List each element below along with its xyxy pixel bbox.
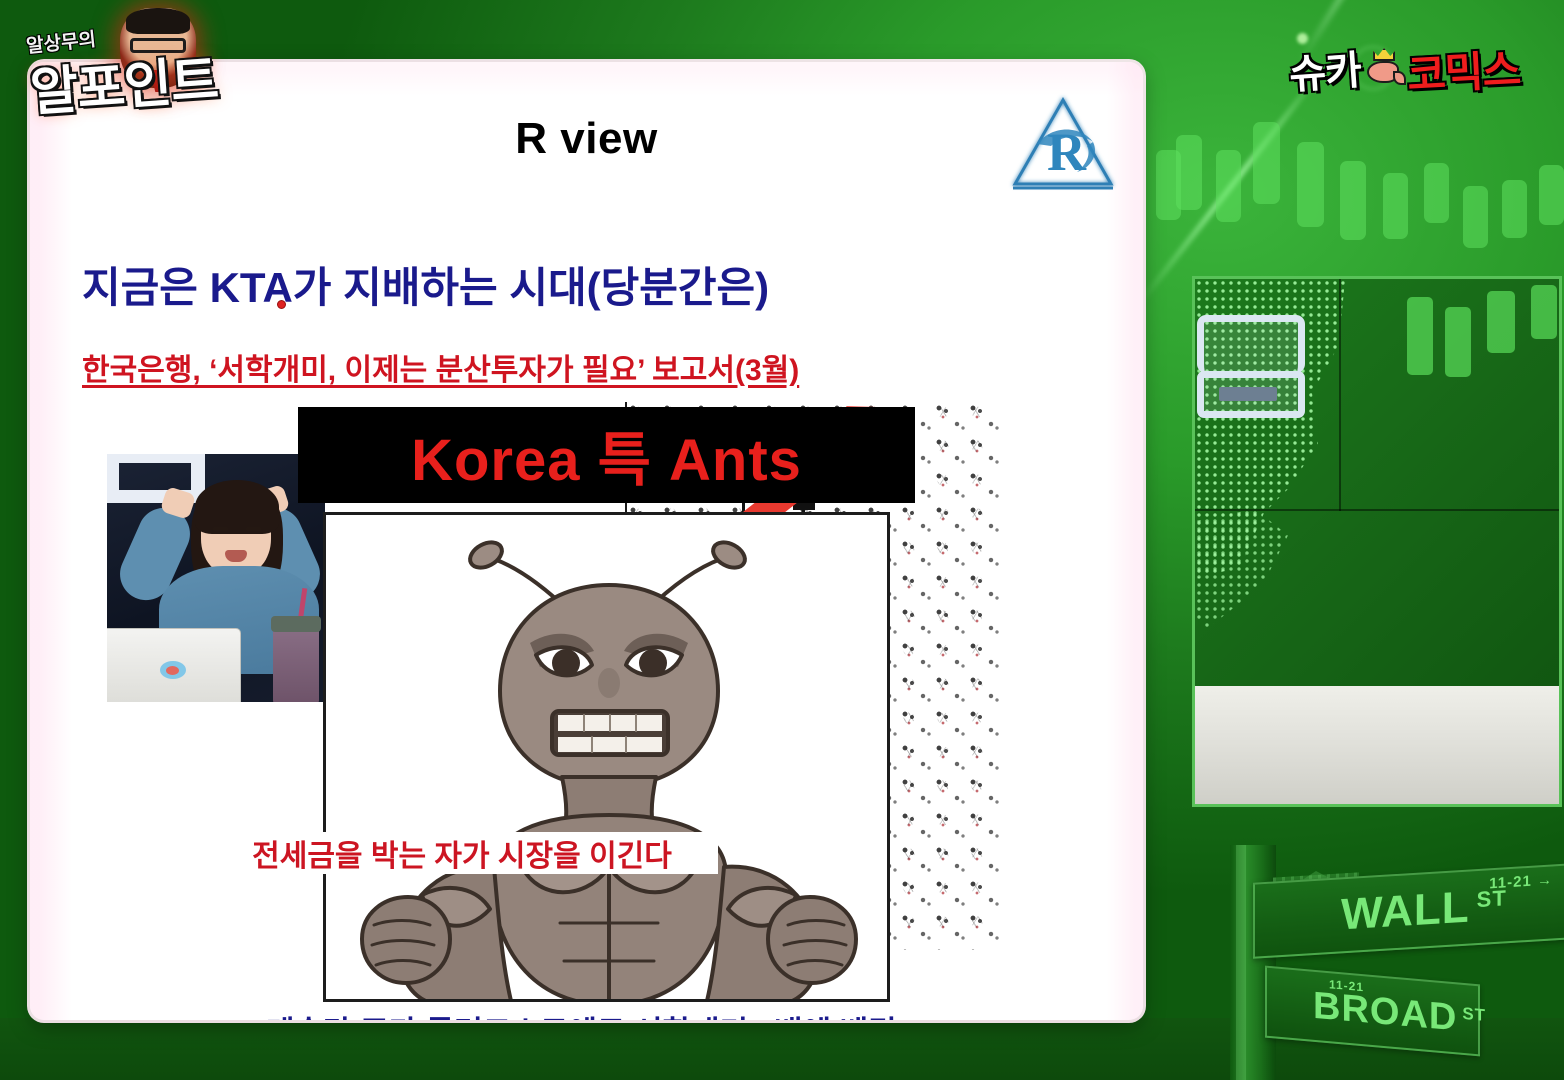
guest-webcam-left[interactable]: [107, 454, 325, 702]
studio-bar: [1445, 307, 1471, 377]
shrimp-sticker-icon: [160, 661, 186, 679]
left-cam-mouth: [225, 550, 247, 562]
backdrop-bar: [1463, 186, 1488, 248]
broad-st-sign: 11-21 BROAD ST: [1265, 966, 1480, 1057]
wall-street-sign-graphic: 11-21 → WALL ST 11-21 BROAD ST: [1175, 845, 1564, 1080]
korea-ants-banner-text: Korea 특 Ants: [411, 413, 802, 497]
svg-text:R: R: [1047, 122, 1087, 182]
left-cam-laptop: [107, 628, 241, 702]
backdrop-bar: [1253, 122, 1280, 204]
slide-bottom-note: 테슬라 주가 롤러코스트에도 서학개미 2배에 베팅!: [30, 1007, 1143, 1020]
studio-grid-line-horizontal: [1195, 509, 1562, 511]
sign-pole: [1230, 845, 1276, 1080]
backdrop-bar: [1383, 173, 1408, 239]
left-cam-drink-cup: [273, 624, 319, 702]
presentation-slide: R view R 지금은 KTA가 지배하는 시대(당분간은) 한국은행, ‘서…: [30, 62, 1143, 1020]
left-cam-hair-top: [195, 480, 279, 534]
backdrop-bar: [1176, 135, 1202, 210]
slide-headline-red: 한국은행, ‘서학개미, 이제는 분산투자가 필요’ 보고서(3월): [82, 345, 799, 389]
backdrop-bar: [1539, 165, 1564, 225]
studio-grid-line-vertical: [1339, 279, 1341, 511]
backdrop-bar: [1340, 161, 1366, 240]
brand-word-2: 코믹스: [1406, 36, 1522, 103]
backdrop-bar: [1216, 150, 1241, 222]
wall-st-number: 11-21 →: [1489, 871, 1553, 892]
left-cam-eye-left: [213, 527, 228, 531]
ant-caption-box: 전세금을 박는 자가 시장을 이긴다: [206, 832, 718, 874]
studio-desk: [1192, 686, 1562, 804]
broad-st-number: 11-21: [1329, 977, 1364, 994]
studio-korean-glyph: [1197, 315, 1309, 420]
slide-title: R view: [30, 114, 1143, 164]
red-dot-marker-icon: [277, 300, 286, 309]
ant-caption-text: 전세금을 박는 자가 시장을 이긴다: [252, 831, 672, 875]
show-logo-title: 알포인트: [28, 38, 220, 126]
studio-bar: [1487, 291, 1515, 353]
slide-headline-blue-text: 지금은 KTA가 지배하는 시대(당분간은): [82, 264, 769, 311]
backdrop-bar: [1424, 163, 1449, 223]
muscular-ant-illustration: [323, 512, 890, 1002]
slide-headline-blue: 지금은 KTA가 지배하는 시대(당분간은): [82, 254, 769, 315]
studio-bar: [1407, 297, 1433, 375]
wall-st-label: WALL: [1341, 886, 1470, 938]
channel-brand-logo: 슈카 코믹스: [1289, 38, 1520, 100]
broad-st-label: BROAD: [1313, 987, 1457, 1038]
r-triangle-logo-icon: R: [1007, 88, 1119, 198]
crowned-shrimp-icon: [1363, 49, 1405, 89]
studio-bar: [1531, 285, 1557, 339]
show-logo: 알상무의 알포인트: [12, 6, 242, 118]
left-cam-eye-right: [246, 527, 261, 531]
korea-ants-banner: Korea 특 Ants: [298, 407, 915, 503]
guest-webcam-right[interactable]: [1192, 276, 1562, 807]
backdrop-bar: [1502, 180, 1527, 238]
brand-word-1: 슈카: [1288, 38, 1363, 101]
backdrop-bar: [1297, 142, 1324, 227]
broad-st-suffix: ST: [1462, 1003, 1486, 1025]
